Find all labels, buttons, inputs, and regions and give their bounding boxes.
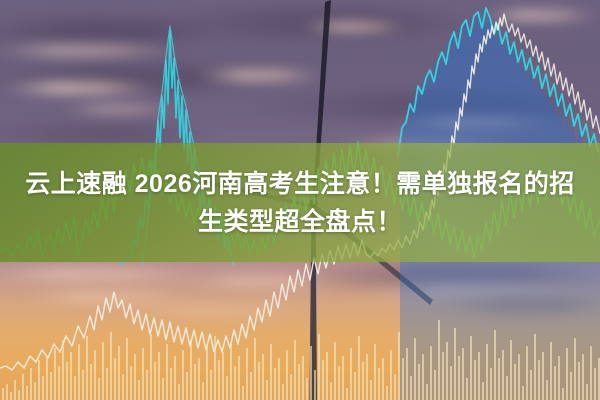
headline-line-1: 云上速融 2026河南高考生注意！需单独报名的招 — [25, 167, 575, 201]
banner-image: 云上速融 2026河南高考生注意！需单独报名的招 生类型超全盘点！ — [0, 0, 600, 400]
headline-block: 云上速融 2026河南高考生注意！需单独报名的招 生类型超全盘点！ — [0, 143, 600, 262]
headline-line-2: 生类型超全盘点！ — [198, 205, 402, 239]
